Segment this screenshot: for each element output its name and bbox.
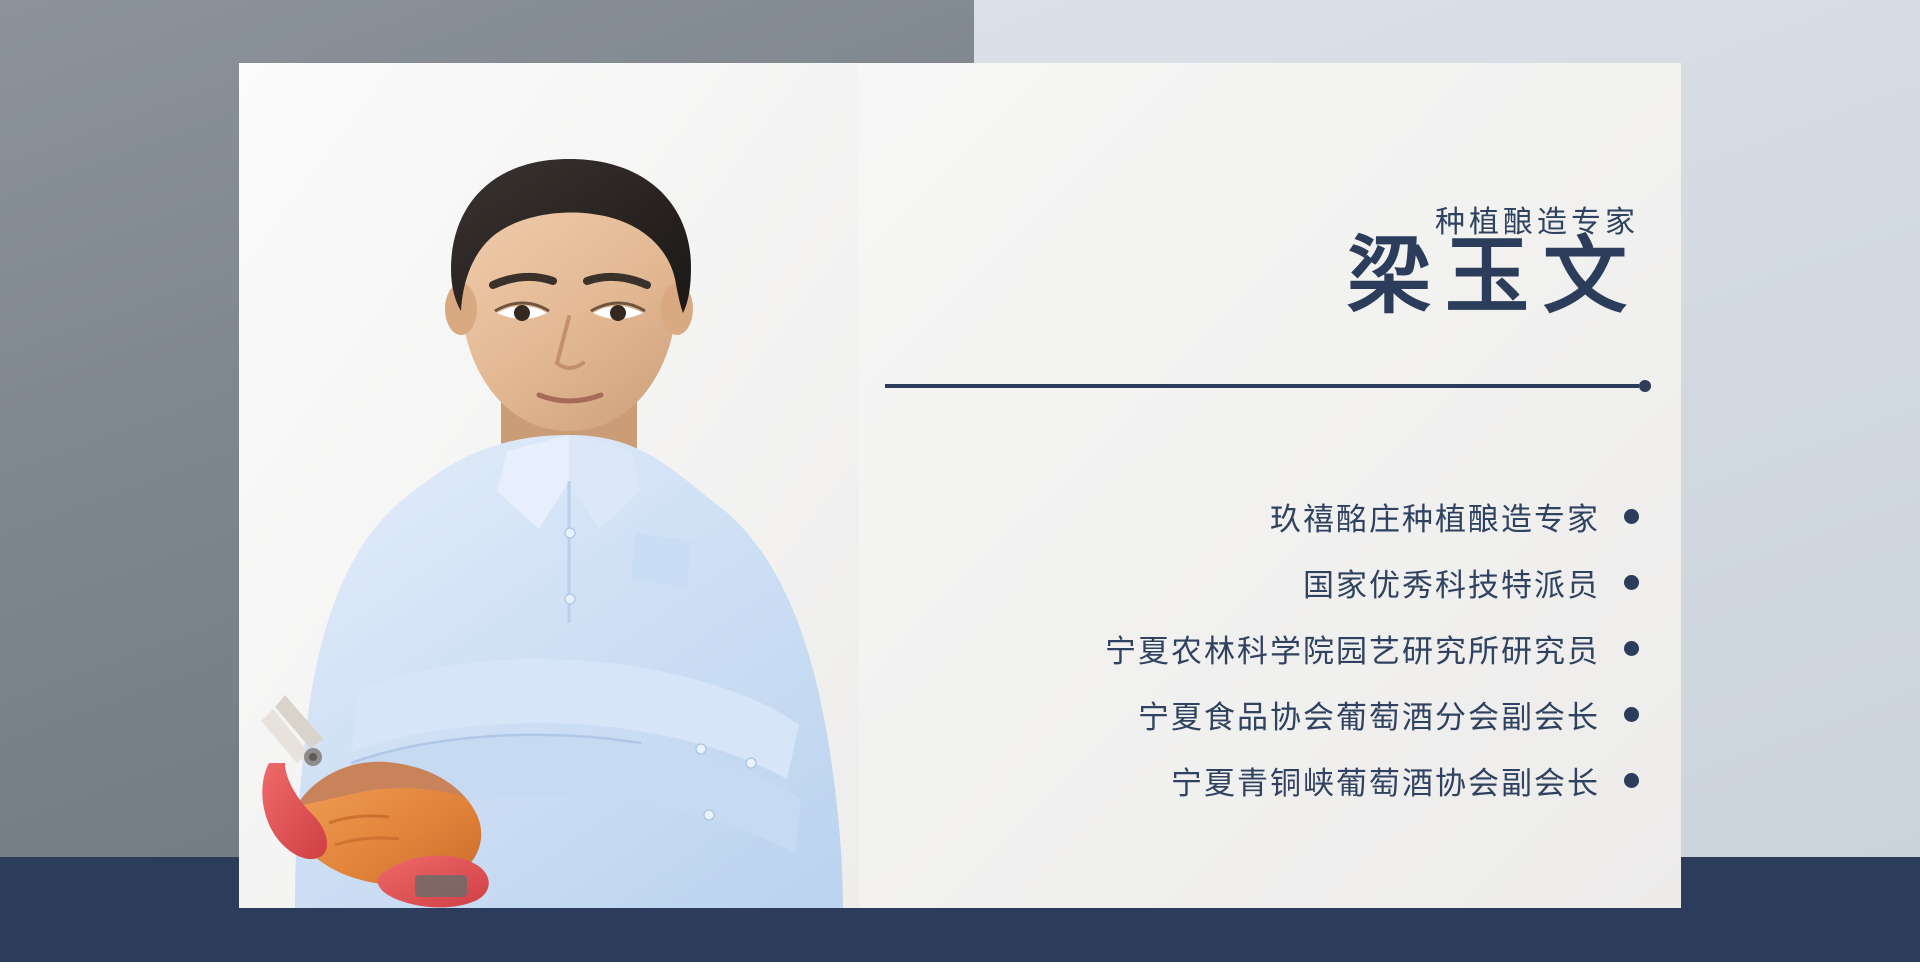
bullet-icon — [1624, 707, 1639, 722]
background-bottom-white-strip — [0, 962, 1920, 970]
list-item: 宁夏农林科学院园艺研究所研究员 — [849, 615, 1639, 681]
credential-label: 宁夏农林科学院园艺研究所研究员 — [1105, 626, 1600, 671]
credential-label: 国家优秀科技特派员 — [1303, 560, 1600, 605]
divider-end-dot-icon — [1639, 380, 1651, 392]
divider — [885, 379, 1651, 393]
credential-label: 宁夏食品协会葡萄酒分会副会长 — [1138, 692, 1600, 737]
divider-line — [885, 384, 1639, 388]
credential-label: 玖禧酩庄种植酿造专家 — [1270, 494, 1600, 539]
expert-name: 梁玉文 — [1333, 235, 1641, 321]
list-item: 宁夏青铜峡葡萄酒协会副会长 — [849, 747, 1639, 813]
list-item: 国家优秀科技特派员 — [849, 549, 1639, 615]
bullet-icon — [1624, 509, 1639, 524]
list-item: 宁夏食品协会葡萄酒分会副会长 — [849, 681, 1639, 747]
bullet-icon — [1624, 641, 1639, 656]
profile-text-column: 种植酿造专家 梁玉文 玖禧酩庄种植酿造专家 国家优秀科技特派员 宁夏农林科学院园… — [839, 63, 1681, 908]
expert-profile-banner: 种植酿造专家 梁玉文 玖禧酩庄种植酿造专家 国家优秀科技特派员 宁夏农林科学院园… — [0, 0, 1920, 970]
credential-label: 宁夏青铜峡葡萄酒协会副会长 — [1171, 758, 1600, 803]
list-item: 玖禧酩庄种植酿造专家 — [849, 483, 1639, 549]
bullet-icon — [1624, 575, 1639, 590]
profile-card: 种植酿造专家 梁玉文 玖禧酩庄种植酿造专家 国家优秀科技特派员 宁夏农林科学院园… — [239, 63, 1681, 908]
bullet-icon — [1624, 773, 1639, 788]
expert-portrait — [239, 63, 859, 908]
credential-list: 玖禧酩庄种植酿造专家 国家优秀科技特派员 宁夏农林科学院园艺研究所研究员 宁夏食… — [849, 483, 1639, 813]
